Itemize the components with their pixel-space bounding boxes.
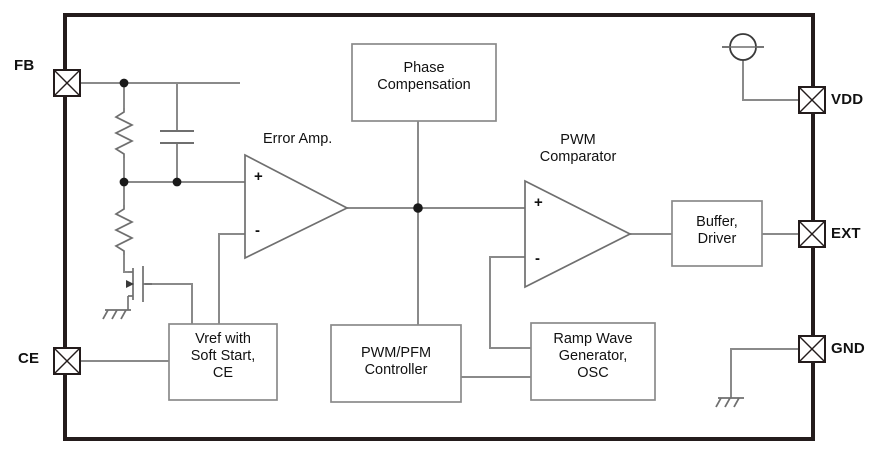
pin-label-gnd: GND [831,340,865,358]
block-label-ramp-wave-osc: Ramp Wave Generator, OSC [531,331,655,382]
error-amp-minus-sign: - [255,222,260,240]
pwm-comparator-plus-sign: + [534,194,543,212]
wire-isource-to-vdd [743,60,799,100]
pin-label-ext: EXT [831,225,861,243]
error-amp-title: Error Amp. [263,131,332,148]
pin-gnd-icon[interactable] [799,336,825,362]
block-label-pwm-pfm-controller: PWM/PFM Controller [331,345,461,379]
pwm-pfm-line-1: PWM/PFM [331,345,461,362]
resistor-upper-symbol [116,108,132,158]
buffer-line-2: Driver [672,231,762,248]
ramp-line-3: OSC [531,365,655,382]
pwm-comparator-title-line-1: PWM [518,132,638,149]
pin-ce-icon[interactable] [54,348,80,374]
pin-label-ce: CE [18,350,39,368]
pwm-comparator-title: PWM Comparator [518,132,638,166]
pin-label-vdd: VDD [831,91,863,109]
wire-res-lower-to-mosfet [124,255,128,272]
phase-compensation-line-1: Phase [352,60,496,77]
wire-mosfet-gate-vref [145,284,192,324]
pin-label-fb: FB [14,57,34,75]
junction-fb-top [120,79,129,88]
phase-compensation-line-2: Compensation [352,77,496,94]
block-label-vref-soft-start: Vref with Soft Start, CE [169,331,277,382]
ground-left-icon [103,310,131,319]
pin-fb-icon[interactable] [54,70,80,96]
resistor-lower-symbol [116,205,132,255]
pwm-comparator-minus-sign: - [535,250,540,268]
pwm-pfm-line-2: Controller [331,362,461,379]
pin-ext-icon[interactable] [799,221,825,247]
pwm-comparator-title-line-2: Comparator [518,149,638,166]
ramp-line-1: Ramp Wave [531,331,655,348]
block-label-buffer-driver: Buffer, Driver [672,214,762,248]
junction-divider [120,178,129,187]
error-amp-plus-sign: + [254,168,263,186]
wire-gnd-pin-to-ground [731,349,799,398]
wire-vref-to-eamp-minus [219,234,245,324]
vref-line-2: Soft Start, [169,348,277,365]
block-label-phase-compensation: Phase Compensation [352,60,496,94]
pin-vdd-icon[interactable] [799,87,825,113]
block-diagram-canvas: FB CE VDD EXT GND Error Amp. PWM Compara… [0,0,881,455]
ramp-line-2: Generator, [531,348,655,365]
buffer-line-1: Buffer, [672,214,762,231]
vref-line-3: CE [169,365,277,382]
junction-eamp-out [413,203,423,213]
vref-line-1: Vref with [169,331,277,348]
ground-right-icon [716,398,744,407]
junction-cap-bot [173,178,182,187]
